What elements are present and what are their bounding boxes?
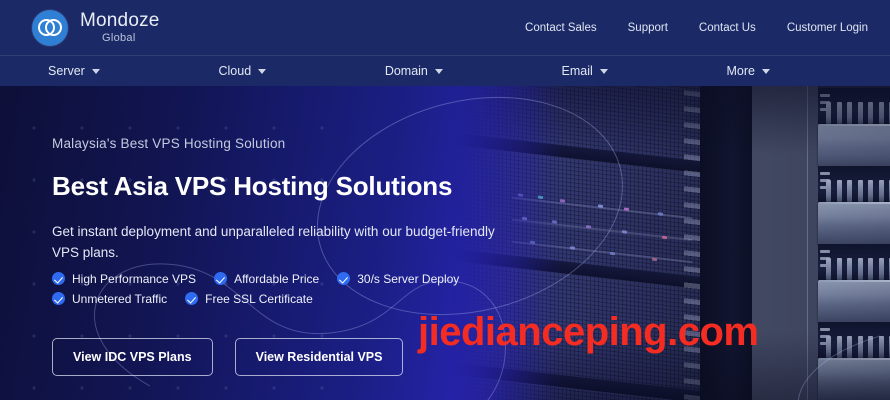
nav-label-more: More: [726, 64, 754, 78]
feature-high-performance-vps: High Performance VPS: [52, 272, 196, 286]
rack-bay: [818, 322, 890, 360]
chevron-down-icon: [435, 69, 443, 74]
rack-pins: [826, 180, 890, 202]
chevron-down-icon: [92, 69, 100, 74]
check-circle-icon: [52, 272, 65, 285]
feature-label: Affordable Price: [234, 272, 319, 286]
brand-logo[interactable]: Mondoze Global: [32, 10, 160, 46]
site-header: Mondoze Global Contact Sales Support Con…: [0, 0, 890, 55]
watermark-text: jiedianceping.com: [418, 312, 758, 352]
feature-row-1: High Performance VPS Affordable Price 30…: [52, 272, 612, 286]
top-utility-links: Contact Sales Support Contact Us Custome…: [525, 22, 868, 34]
view-idc-vps-plans-button[interactable]: View IDC VPS Plans: [52, 338, 213, 376]
front-server-rack: [818, 86, 890, 400]
rack-shelf: [818, 202, 890, 244]
check-circle-icon: [52, 292, 65, 305]
rack-shelf: [818, 124, 890, 166]
nav-label-cloud: Cloud: [218, 64, 251, 78]
chevron-down-icon: [600, 69, 608, 74]
rack-edge-glow: [818, 124, 890, 126]
nav-item-cloud[interactable]: Cloud: [218, 64, 266, 78]
chevron-down-icon: [258, 69, 266, 74]
feature-label: 30/s Server Deploy: [357, 272, 459, 286]
nav-label-email: Email: [562, 64, 593, 78]
rack-bay: [818, 244, 890, 282]
check-circle-icon: [185, 292, 198, 305]
page-title: Best Asia VPS Hosting Solutions: [52, 171, 612, 202]
nav-item-email[interactable]: Email: [562, 64, 608, 78]
feature-label: High Performance VPS: [72, 272, 196, 286]
rack-edge-glow: [818, 280, 890, 282]
check-circle-icon: [214, 272, 227, 285]
chevron-down-icon: [762, 69, 770, 74]
top-link-contact-sales[interactable]: Contact Sales: [525, 22, 597, 34]
feature-free-ssl-certificate: Free SSL Certificate: [185, 292, 313, 306]
feature-affordable-price: Affordable Price: [214, 272, 319, 286]
nav-item-server[interactable]: Server: [48, 64, 100, 78]
logo-ring-right: [45, 19, 62, 36]
rack-edge-glow: [818, 202, 890, 204]
nav-label-server: Server: [48, 64, 85, 78]
top-link-contact-us[interactable]: Contact Us: [699, 22, 756, 34]
feature-row-2: Unmetered Traffic Free SSL Certificate: [52, 292, 612, 306]
rack-shelf: [818, 280, 890, 322]
feature-server-deploy: 30/s Server Deploy: [337, 272, 459, 286]
main-navbar: Server Cloud Domain Email More: [0, 55, 890, 86]
brand-text: Mondoze Global: [80, 11, 160, 44]
top-link-support[interactable]: Support: [628, 22, 668, 34]
brand-subtitle: Global: [102, 33, 160, 44]
rack-pins: [826, 102, 890, 124]
check-circle-icon: [337, 272, 350, 285]
feature-unmetered-traffic: Unmetered Traffic: [52, 292, 167, 306]
rack-pins: [826, 336, 890, 358]
nav-item-more[interactable]: More: [726, 64, 769, 78]
rack-edge-glow: [818, 358, 890, 360]
top-link-customer-login[interactable]: Customer Login: [787, 22, 868, 34]
page-root: Mondoze Global Contact Sales Support Con…: [0, 0, 890, 400]
hero-feature-list: High Performance VPS Affordable Price 30…: [52, 272, 612, 306]
rack-shelf: [818, 358, 890, 400]
rack-bay: [818, 88, 890, 126]
feature-label: Free SSL Certificate: [205, 292, 313, 306]
view-residential-vps-button[interactable]: View Residential VPS: [235, 338, 404, 376]
rack-pins: [826, 258, 890, 280]
hero-subcopy: Get instant deployment and unparalleled …: [52, 222, 522, 264]
brand-name: Mondoze: [80, 11, 160, 30]
nav-item-domain[interactable]: Domain: [385, 64, 443, 78]
hero-eyebrow: Malaysia's Best VPS Hosting Solution: [52, 136, 612, 151]
rack-bay: [818, 166, 890, 204]
feature-label: Unmetered Traffic: [72, 292, 167, 306]
concrete-pillar: [752, 86, 818, 400]
mondoze-overlapping-circles-logo-icon: [32, 10, 68, 46]
nav-label-domain: Domain: [385, 64, 428, 78]
